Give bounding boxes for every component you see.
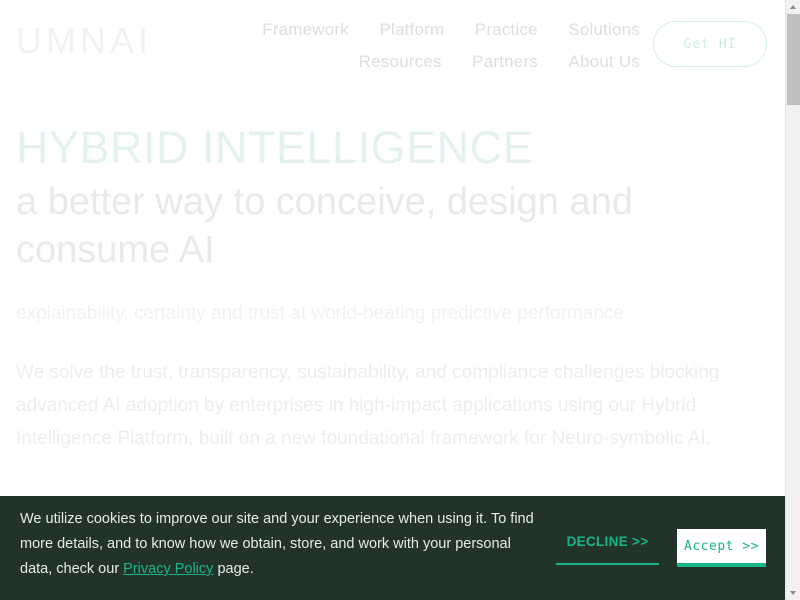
get-hi-button[interactable]: Get HI [653,21,767,67]
cookie-consent-banner: We utilize cookies to improve our site a… [0,496,785,600]
site-logo[interactable]: UMNAI [16,19,152,63]
main-navigation: Framework Platform Practice Solutions Re… [215,14,640,78]
nav-item-practice[interactable]: Practice [475,14,538,45]
nav-row-secondary: Resources Partners About Us [215,46,640,78]
nav-item-solutions[interactable]: Solutions [568,14,640,45]
privacy-policy-link[interactable]: Privacy Policy [123,561,213,577]
nav-item-partners[interactable]: Partners [472,46,538,77]
nav-item-framework[interactable]: Framework [262,14,349,45]
browser-viewport: UMNAI Framework Platform Practice Soluti… [0,0,785,600]
hero-subtitle: a better way to conceive, design and con… [0,176,785,274]
cookie-banner-text: We utilize cookies to improve our site a… [20,507,540,582]
scroll-up-arrow-icon[interactable] [786,0,800,14]
site-header: UMNAI Framework Platform Practice Soluti… [0,0,785,90]
decline-cookies-button[interactable]: DECLINE >> [556,531,659,565]
vertical-scrollbar[interactable] [785,0,800,600]
hero-tagline: explainability, certainty and trust at w… [0,274,785,328]
cookie-text-part-2: page. [213,561,253,577]
hero-section: HYBRID INTELLIGENCE a better way to conc… [0,120,785,455]
nav-item-about-us[interactable]: About Us [568,46,640,77]
scrollbar-thumb[interactable] [787,14,800,105]
hero-title: HYBRID INTELLIGENCE [0,120,785,176]
accept-cookies-button[interactable]: Accept >> [677,529,766,567]
nav-item-platform[interactable]: Platform [379,14,444,45]
nav-item-resources[interactable]: Resources [359,46,442,77]
scroll-down-arrow-icon[interactable] [786,586,800,600]
hero-paragraph: We solve the trust, transparency, sustai… [0,328,785,455]
cookie-text-part-1: We utilize cookies to improve our site a… [20,511,534,577]
nav-row-primary: Framework Platform Practice Solutions [215,14,640,46]
